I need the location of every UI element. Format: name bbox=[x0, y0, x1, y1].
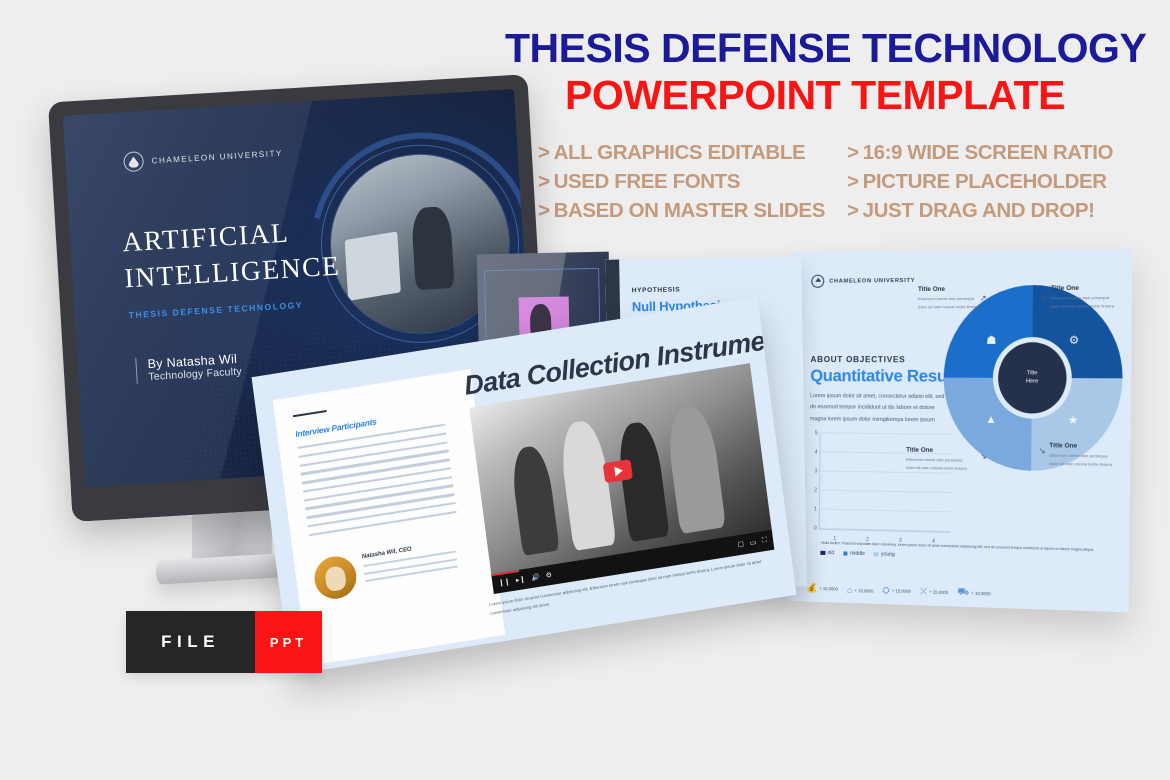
stat-value: + 15,0000 bbox=[854, 588, 873, 594]
quadrant-label: Title One Ethereum lorem nise persequa d… bbox=[1049, 442, 1115, 470]
headline-secondary: POWERPOINT TEMPLATE bbox=[505, 73, 1125, 119]
stat-item: ⛌+ 15,0000 bbox=[920, 586, 948, 598]
quadrant-body: Ethereum lorem nise persequa dolor sit n… bbox=[906, 456, 970, 474]
network-icon: ★ bbox=[1068, 413, 1079, 427]
legend-swatch bbox=[874, 552, 879, 557]
stat-item: ⌂+ 15,0000 bbox=[847, 585, 873, 596]
chevron-right-icon: > bbox=[847, 199, 859, 222]
captions-icon[interactable]: ☐ bbox=[737, 540, 744, 549]
legend-label: young bbox=[881, 551, 895, 557]
chart-y-tick: 0 bbox=[814, 526, 817, 532]
volume-icon[interactable]: 🔊 bbox=[531, 573, 541, 582]
rocket-icon: ⚙ bbox=[1069, 333, 1080, 346]
cup-icon: ☗ bbox=[986, 333, 996, 346]
feature-item: >USED FREE FONTS bbox=[538, 169, 825, 195]
feature-label: BASED ON MASTER SLIDES bbox=[554, 199, 825, 222]
car-icon: ⛌ bbox=[920, 586, 927, 597]
stat-value: + 10,0000 bbox=[971, 590, 991, 596]
badge-ppt-section: PPT bbox=[255, 611, 322, 673]
chart-y-tick: 1 bbox=[814, 507, 817, 513]
pointer-arrow-icon: ↘ bbox=[980, 452, 987, 461]
feature-label: JUST DRAG AND DROP! bbox=[863, 199, 1095, 222]
house-icon: ⌂ bbox=[847, 585, 853, 595]
slide-title: ARTIFICIAL INTELLIGENCE bbox=[121, 210, 365, 297]
feature-item: >BASED ON MASTER SLIDES bbox=[538, 198, 825, 224]
pause-icon[interactable]: ❙❙ bbox=[498, 577, 511, 587]
stat-item: ⛭+ 15,0000 bbox=[882, 585, 911, 597]
quadrant-body: Ethereum lorem nise persequa dolor sit n… bbox=[1051, 294, 1117, 312]
brand-label: CHAMELEON UNIVERSITY bbox=[151, 148, 283, 165]
chart-y-tick: 5 bbox=[815, 430, 818, 436]
tower-icon: ▲ bbox=[985, 413, 996, 425]
quadrant-title: Title One bbox=[1051, 284, 1117, 292]
feature-label: 16:9 WIDE SCREEN RATIO bbox=[863, 141, 1114, 164]
pointer-arrow-icon: ↗ bbox=[1040, 293, 1047, 302]
feature-item: >ALL GRAPHICS EDITABLE bbox=[538, 140, 825, 166]
center-label-line1: Title bbox=[1027, 370, 1038, 378]
theater-icon[interactable]: ▭ bbox=[749, 538, 757, 547]
promo-poster: THESIS DEFENSE TECHNOLOGY POWERPOINT TEM… bbox=[0, 0, 1170, 780]
legend-item: old bbox=[820, 550, 834, 556]
stat-value: + 10,0000 bbox=[819, 586, 838, 592]
chameleon-logo-icon bbox=[811, 275, 824, 288]
photo-figure bbox=[615, 420, 670, 542]
quadrant-body: Ethereum lorem nise persequa dolor sit n… bbox=[918, 295, 982, 312]
quadrant-title: Title One bbox=[906, 447, 970, 455]
feature-item: >JUST DRAG AND DROP! bbox=[847, 198, 1113, 224]
quadrant-label: Title One Ethereum lorem nise persequa d… bbox=[906, 447, 970, 474]
quadrant-body: Ethereum lorem nise persequa dolor sit n… bbox=[1049, 451, 1115, 469]
stat-value: + 15,0000 bbox=[892, 588, 911, 594]
feature-label: PICTURE PLACEHOLDER bbox=[863, 170, 1107, 193]
quadrant-title: Title One bbox=[918, 285, 982, 293]
quadrant-label: Title One Ethereum lorem nise persequa d… bbox=[1051, 284, 1117, 311]
section-body: Lorem ipsum dolor sit amet, consectetur … bbox=[810, 391, 952, 427]
chevron-right-icon: > bbox=[538, 199, 550, 222]
settings-icon[interactable]: ⚙ bbox=[545, 571, 552, 580]
brand-lockup: CHAMELEON UNIVERSITY bbox=[811, 274, 915, 288]
chart-y-tick: 2 bbox=[814, 487, 817, 493]
quadrant-label: Title One Ethereum lorem nise persequa d… bbox=[918, 285, 982, 312]
pointer-arrow-icon: ↘ bbox=[1039, 446, 1046, 455]
stat-item: ⛟+ 10,0000 bbox=[957, 586, 990, 599]
stats-row: 💰+ 10,0000⌂+ 15,0000⛭+ 15,0000⛌+ 15,0000… bbox=[806, 582, 991, 600]
bench-icon: ⛭ bbox=[882, 585, 889, 596]
chart-y-tick: 3 bbox=[814, 468, 817, 474]
photo-figure bbox=[557, 418, 616, 551]
center-label-line2: Here bbox=[1026, 378, 1038, 386]
file-type-badge: FILE PPT bbox=[126, 611, 322, 673]
money-bag-icon: 💰 bbox=[806, 583, 817, 594]
quadrant-title: Title One bbox=[1049, 442, 1115, 450]
badge-file-label: FILE bbox=[161, 632, 220, 652]
legend-label: middle bbox=[850, 551, 865, 557]
next-icon[interactable]: ▸❙ bbox=[515, 575, 525, 584]
chameleon-logo-icon bbox=[123, 151, 144, 172]
feature-column-left: >ALL GRAPHICS EDITABLE >USED FREE FONTS … bbox=[538, 140, 825, 225]
fullscreen-icon[interactable]: ⛶ bbox=[762, 537, 768, 546]
feature-column-right: >16:9 WIDE SCREEN RATIO >PICTURE PLACEHO… bbox=[847, 140, 1113, 225]
badge-ppt-label: PPT bbox=[270, 635, 307, 650]
quantitative-results-slide: CHAMELEON UNIVERSITY ABOUT OBJECTIVES Qu… bbox=[788, 249, 1132, 613]
photo-figure bbox=[509, 444, 559, 556]
feature-item: >PICTURE PLACEHOLDER bbox=[847, 169, 1113, 195]
photo-figure bbox=[665, 404, 726, 534]
section-kicker: HYPOTHESIS bbox=[632, 286, 681, 294]
legend-item: young bbox=[874, 551, 895, 558]
badge-file-section: FILE bbox=[126, 611, 255, 673]
chevron-right-icon: > bbox=[847, 141, 859, 164]
feature-item: >16:9 WIDE SCREEN RATIO bbox=[847, 140, 1113, 166]
stat-value: + 15,0000 bbox=[929, 589, 948, 595]
brand-label: CHAMELEON UNIVERSITY bbox=[829, 277, 915, 284]
chevron-right-icon: > bbox=[538, 141, 550, 164]
feature-list: >ALL GRAPHICS EDITABLE >USED FREE FONTS … bbox=[538, 140, 1098, 225]
headline-block: THESIS DEFENSE TECHNOLOGY POWERPOINT TEM… bbox=[505, 28, 1125, 119]
feature-label: USED FREE FONTS bbox=[554, 170, 741, 193]
section-kicker: ABOUT OBJECTIVES bbox=[810, 355, 905, 364]
chevron-right-icon: > bbox=[847, 170, 859, 193]
feature-label: ALL GRAPHICS EDITABLE bbox=[554, 141, 806, 164]
cart-icon: ⛟ bbox=[957, 586, 969, 599]
stat-item: 💰+ 10,0000 bbox=[806, 583, 838, 595]
legend-swatch bbox=[843, 551, 848, 556]
legend-swatch bbox=[820, 551, 825, 556]
chart-legend: oldmiddleyoung bbox=[820, 550, 895, 558]
legend-item: middle bbox=[843, 550, 865, 557]
chevron-right-icon: > bbox=[538, 170, 550, 193]
legend-label: old bbox=[827, 550, 834, 556]
chart-y-tick: 4 bbox=[815, 449, 818, 455]
headline-primary: THESIS DEFENSE TECHNOLOGY bbox=[505, 28, 1125, 69]
